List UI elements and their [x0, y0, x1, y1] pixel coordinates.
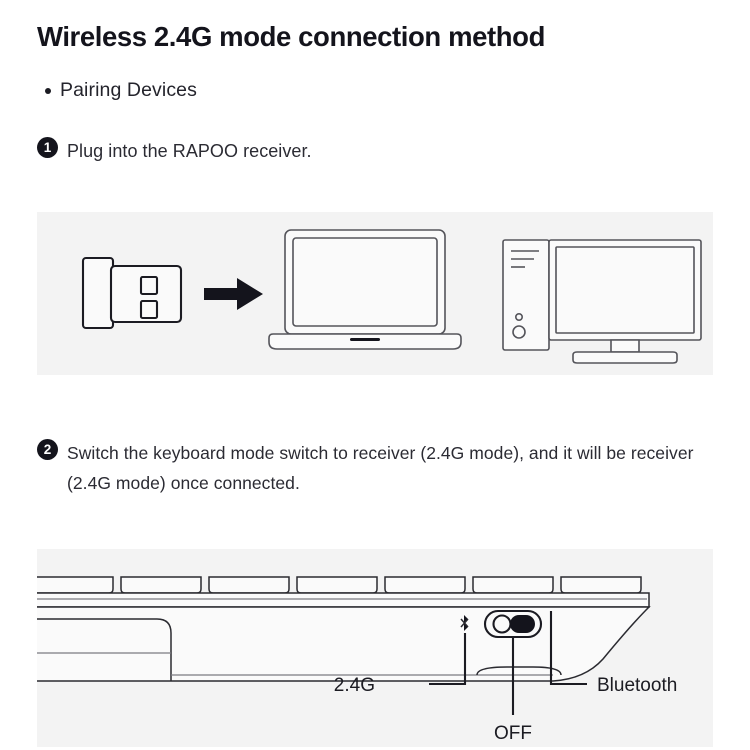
- devices-illustration-panel: [37, 212, 713, 375]
- monitor-icon: [549, 240, 701, 363]
- step-2-number-badge: 2: [37, 439, 58, 460]
- callout-label-bluetooth: Bluetooth: [597, 675, 677, 696]
- keyboard-top-plate: [37, 593, 649, 607]
- callout-label-off: OFF: [494, 723, 532, 744]
- arrow-right-icon: [204, 278, 263, 310]
- laptop-icon: [269, 230, 461, 349]
- step-1: 1 Plug into the RAPOO receiver.: [37, 136, 312, 166]
- devices-illustration-svg: [37, 212, 713, 375]
- page-title: Wireless 2.4G mode connection method: [37, 21, 545, 53]
- callout-label-2-4g: 2.4G: [334, 675, 375, 696]
- desktop-tower-icon: [503, 240, 549, 350]
- step-2-text: Switch the keyboard mode switch to recei…: [67, 438, 697, 498]
- step-1-number-badge: 1: [37, 137, 58, 158]
- mode-switch-toggle[interactable]: [485, 611, 541, 637]
- step-1-text: Plug into the RAPOO receiver.: [67, 136, 312, 166]
- keyboard-body: [37, 607, 649, 681]
- keyboard-illustration-svg: 2.4G OFF Bluetooth: [37, 549, 713, 747]
- step-2: 2 Switch the keyboard mode switch to rec…: [37, 438, 697, 498]
- section-bullet: Pairing Devices: [45, 79, 197, 102]
- keyboard-illustration-panel: 2.4G OFF Bluetooth: [37, 549, 713, 747]
- keyboard-keys: [37, 577, 641, 593]
- bullet-dot-icon: [45, 88, 51, 94]
- usb-receiver-icon: [83, 258, 181, 328]
- manual-page: Wireless 2.4G mode connection method Pai…: [0, 0, 750, 750]
- section-bullet-label: Pairing Devices: [60, 79, 197, 102]
